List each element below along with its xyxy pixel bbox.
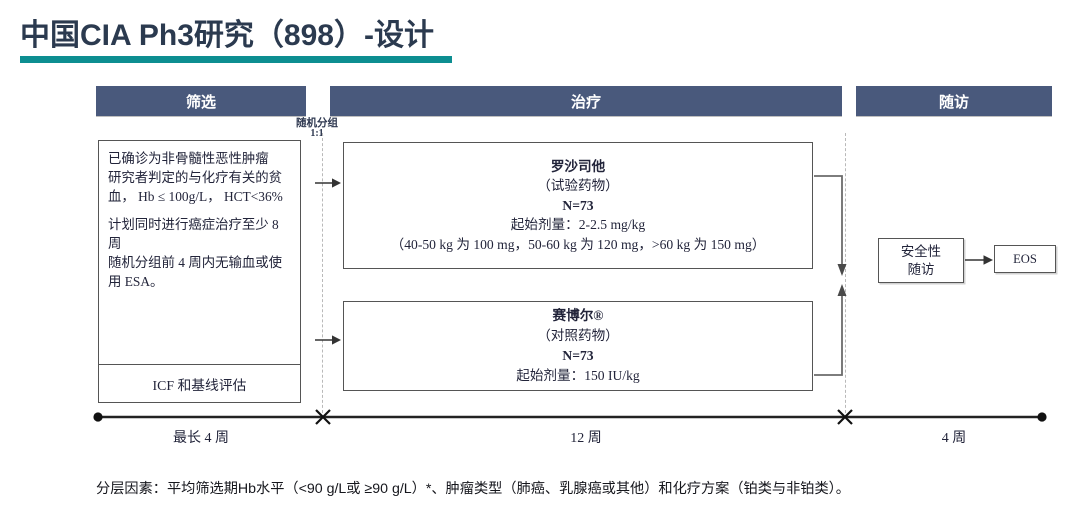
criteria-line-4: 随机分组前 4 周内无输血或使用 ESA。 [108, 253, 291, 291]
criteria-line-3: 计划同时进行癌症治疗至少 8 周 [108, 215, 291, 253]
arm-n-control: N=73 [350, 346, 806, 366]
arm-dose-experimental: 起始剂量：2-2.5 mg/kg [350, 215, 806, 235]
icf-baseline-box: ICF 和基线评估 [98, 365, 301, 403]
icf-label: ICF 和基线评估 [153, 374, 247, 394]
eligibility-criteria-box: 已确诊为非骨髓性恶性肿瘤 研究者判定的与化疗有关的贫血， Hb ≤ 100g/L… [98, 140, 301, 365]
arm-dose-control: 起始剂量：150 IU/kg [350, 366, 806, 386]
safety-followup-box: 安全性 随访 [878, 238, 964, 283]
criteria-spacer [108, 206, 291, 215]
criteria-line-2: 研究者判定的与化疗有关的贫血， Hb ≤ 100g/L， HCT<36% [108, 168, 291, 206]
converging-arrows-icon [812, 168, 860, 383]
timeline-label-followup: 4 周 [856, 427, 1052, 447]
arm-dose-detail-experimental: （40-50 kg 为 100 mg，50-60 kg 为 120 mg，>60… [350, 235, 806, 255]
safety-followup-line2: 随访 [908, 261, 935, 278]
eos-label: EOS [1013, 252, 1037, 267]
randomization-ratio: 1:1 [284, 129, 350, 140]
arm-role-experimental: （试验药物） [350, 176, 806, 196]
arm-name-experimental: 罗沙司他 [350, 157, 806, 177]
stratification-footnote: 分层因素：平均筛选期Hb水平（<90 g/L或 ≥90 g/L）*、肿瘤类型（肺… [96, 478, 850, 498]
phase-header-followup: 随访 [856, 86, 1052, 116]
arrow-to-experimental-arm-icon [315, 176, 341, 190]
arrow-to-eos-icon [965, 253, 993, 267]
phase-label-treatment: 治疗 [571, 91, 601, 112]
phase-header-treatment: 治疗 [330, 86, 842, 116]
eos-box: EOS [994, 245, 1056, 273]
timeline-label-screening: 最长 4 周 [96, 427, 306, 447]
safety-followup-line1: 安全性 [901, 243, 941, 260]
treatment-arm-experimental: 罗沙司他 （试验药物） N=73 起始剂量：2-2.5 mg/kg （40-50… [343, 142, 813, 269]
criteria-line-1: 已确诊为非骨髓性恶性肿瘤 [108, 149, 291, 168]
phase-label-followup: 随访 [939, 91, 969, 112]
arm-n-experimental: N=73 [350, 196, 806, 216]
phase-label-screening: 筛选 [186, 91, 216, 112]
arm-role-control: （对照药物） [350, 326, 806, 346]
randomization-label: 随机分组 1:1 [284, 118, 350, 140]
treatment-arm-control: 赛博尔® （对照药物） N=73 起始剂量：150 IU/kg [343, 301, 813, 391]
arrow-to-control-arm-icon [315, 333, 341, 347]
arm-name-control: 赛博尔® [350, 306, 806, 326]
title-underline-accent [20, 56, 452, 63]
page-title: 中国CIA Ph3研究（898）-设计 [20, 10, 434, 54]
phase-header-screening: 筛选 [96, 86, 306, 116]
timeline-label-treatment: 12 周 [330, 427, 842, 447]
